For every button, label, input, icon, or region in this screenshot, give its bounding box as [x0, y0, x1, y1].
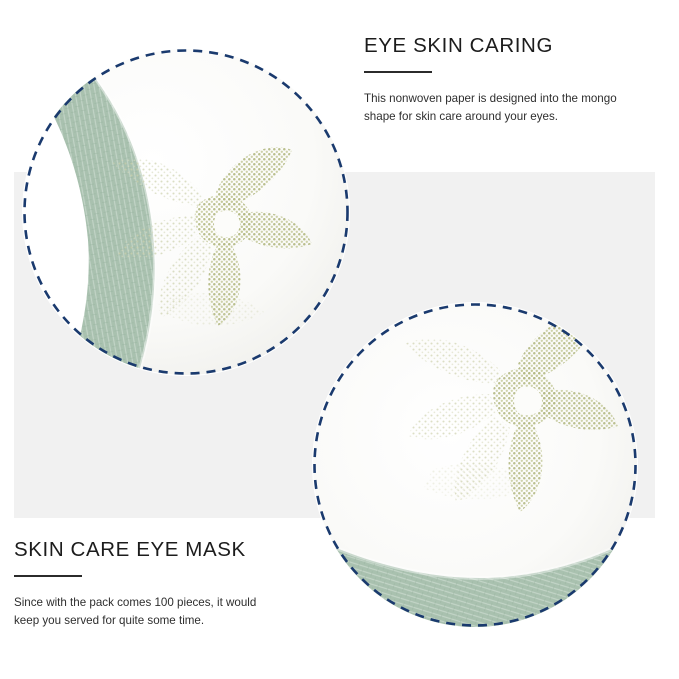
heading-divider-rule-two	[14, 575, 82, 577]
body-text-skin-care-eye-mask: Since with the pack comes 100 pieces, it…	[14, 594, 274, 630]
heading-skin-care-eye-mask: SKIN CARE EYE MASK	[14, 538, 314, 562]
text-block-eye-skin-caring: EYE SKIN CARING This nonwoven paper is d…	[364, 34, 664, 126]
product-photo-top-left	[22, 48, 350, 376]
product-closeup-circle-bottom-right	[312, 302, 638, 628]
eye-mask-illustration-two	[312, 302, 638, 628]
product-photo-bottom-right	[312, 302, 638, 628]
heading-eye-skin-caring: EYE SKIN CARING	[364, 34, 664, 58]
body-line: Since with the pack comes 100 pieces, it…	[14, 594, 274, 612]
product-closeup-circle-top-left	[22, 48, 350, 376]
eye-mask-illustration-one	[22, 48, 350, 376]
body-line: shape for skin care around your eyes.	[364, 108, 624, 126]
heading-divider-rule-one	[364, 71, 432, 73]
text-block-skin-care-eye-mask: SKIN CARE EYE MASK Since with the pack c…	[14, 538, 314, 630]
product-infographic-canvas: EYE SKIN CARING This nonwoven paper is d…	[0, 0, 679, 679]
body-text-eye-skin-caring: This nonwoven paper is designed into the…	[364, 90, 624, 126]
body-line: keep you served for quite some time.	[14, 612, 274, 630]
body-line: This nonwoven paper is designed into the…	[364, 90, 624, 108]
